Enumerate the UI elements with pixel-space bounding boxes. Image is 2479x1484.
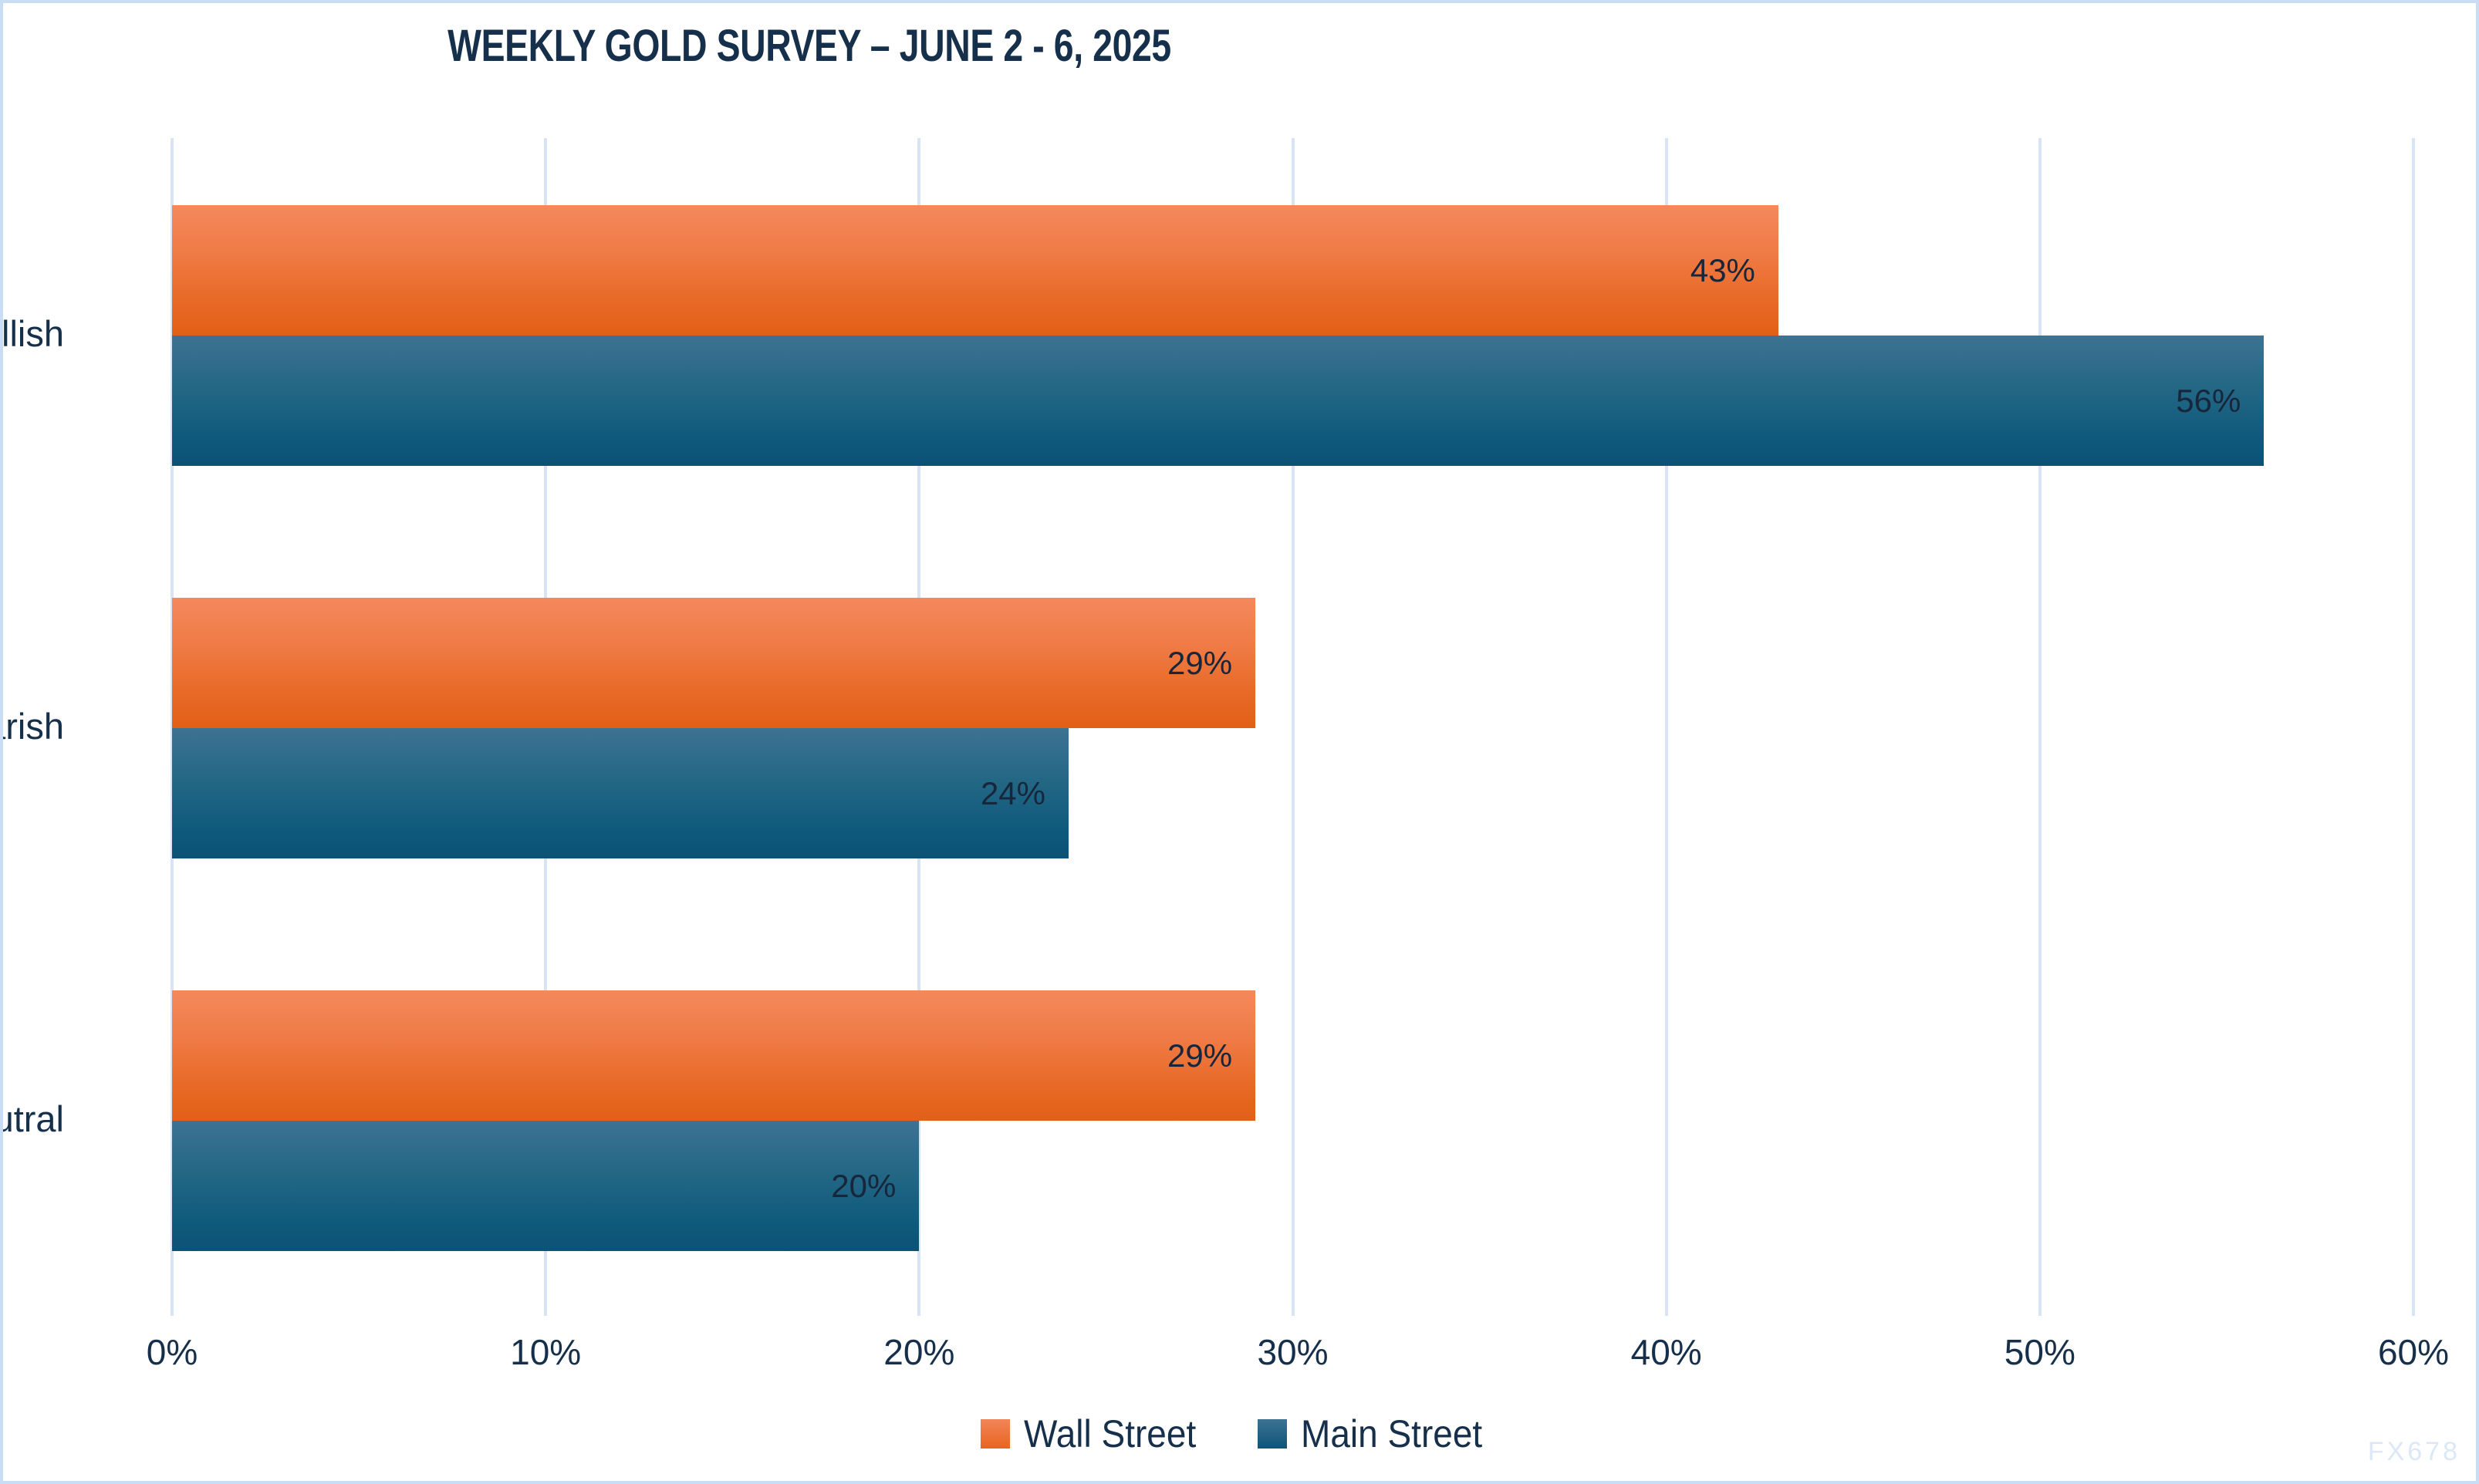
x-tick-label-10pct: 10% (445, 1331, 646, 1373)
category-label-bullish: Bullish (0, 312, 64, 355)
bar-value-label: 20% (831, 1170, 919, 1202)
watermark: FX678 (2368, 1437, 2460, 1467)
bar-bullish-main-street[interactable]: 56% (172, 336, 2264, 466)
x-tick-label-60pct: 60% (2313, 1331, 2479, 1373)
orange-square-icon (981, 1419, 1010, 1449)
bar-group-bullish: Bullish43%56% (172, 205, 2413, 466)
bar-bearish-wall-street[interactable]: 29% (172, 598, 1255, 728)
chart-canvas: WEEKLY GOLD SURVEY – JUNE 2 - 6, 2025 Bu… (0, 0, 2479, 1484)
bar-value-label: 29% (1167, 647, 1255, 680)
bar-value-label: 43% (1690, 255, 1778, 287)
legend-label: Main Street (1301, 1411, 1482, 1456)
category-label-neutral: Neutral (0, 1098, 64, 1140)
bar-bullish-wall-street[interactable]: 43% (172, 205, 1778, 336)
legend-label: Wall Street (1024, 1411, 1196, 1456)
bar-bearish-main-street[interactable]: 24% (172, 728, 1069, 858)
x-tick-label-50pct: 50% (1940, 1331, 2140, 1373)
bar-group-bearish: Bearish29%24% (172, 598, 2413, 858)
x-axis-tick-labels: 0%10%20%30%40%50%60% (172, 1331, 2413, 1385)
page-title: WEEKLY GOLD SURVEY – JUNE 2 - 6, 2025 (164, 20, 1454, 72)
category-label-bearish: Bearish (0, 705, 64, 747)
legend-item-main-street[interactable]: Main Street (1258, 1411, 1498, 1456)
x-tick-label-20pct: 20% (819, 1331, 1019, 1373)
x-tick-label-30pct: 30% (1193, 1331, 1393, 1373)
chart-legend: Wall StreetMain Street (3, 1411, 2476, 1456)
legend-item-wall-street[interactable]: Wall Street (981, 1411, 1211, 1456)
bar-value-label: 24% (981, 777, 1069, 810)
bar-neutral-wall-street[interactable]: 29% (172, 990, 1255, 1121)
x-tick-label-40pct: 40% (1566, 1331, 1767, 1373)
blue-square-icon (1258, 1419, 1287, 1449)
x-tick-label-0pct: 0% (72, 1331, 272, 1373)
bar-neutral-main-street[interactable]: 20% (172, 1121, 919, 1251)
bar-value-label: 29% (1167, 1040, 1255, 1072)
bar-group-neutral: Neutral29%20% (172, 990, 2413, 1251)
plot-area: Bullish43%56%Bearish29%24%Neutral29%20% (172, 138, 2413, 1316)
bar-value-label: 56% (2176, 385, 2264, 417)
